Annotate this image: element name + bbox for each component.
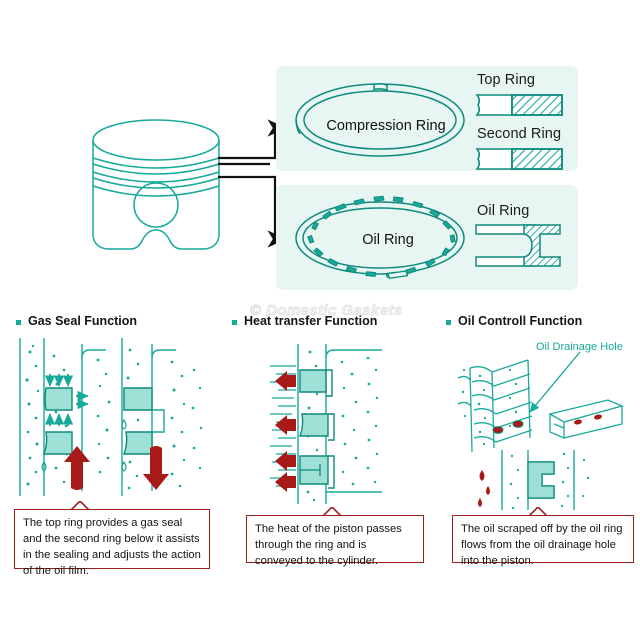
compression-ring-label: Compression Ring xyxy=(316,118,456,134)
section-header-heat-transfer: Heat transfer Function xyxy=(232,314,377,328)
oil-ring-in-groove xyxy=(528,462,554,498)
land-step-right xyxy=(152,410,164,432)
ring-block-middle xyxy=(300,414,334,440)
caption-oil-control: The oil scraped off by the oil ring flow… xyxy=(452,515,634,563)
second-ring-block-right xyxy=(124,432,152,454)
caption-pointer xyxy=(323,507,341,516)
section-title: Gas Seal Function xyxy=(28,314,137,328)
oil-ring-gap xyxy=(388,271,407,278)
bullet-icon xyxy=(232,320,237,325)
bullet-icon xyxy=(446,320,451,325)
piston-body-outline xyxy=(93,140,219,249)
oil-drainage-holes xyxy=(493,421,523,434)
piston-crown-ellipse xyxy=(93,120,219,160)
oil-droplet-right xyxy=(122,462,126,471)
piston-crown-line xyxy=(326,350,382,358)
caption-text: The top ring provides a gas seal and the… xyxy=(23,517,201,577)
second-ring-cross-section xyxy=(476,147,564,171)
connector-upper-a xyxy=(218,128,275,158)
connector-lower xyxy=(218,177,275,239)
oil-speckles-lower xyxy=(510,453,589,509)
section-title: Oil Controll Function xyxy=(458,314,582,328)
oil-control-diagram xyxy=(458,352,638,510)
bullet-icon xyxy=(16,320,21,325)
section-header-gas-seal: Gas Seal Function xyxy=(16,314,137,328)
top-ring-cross-section xyxy=(476,93,564,117)
compression-ring-gap xyxy=(374,84,387,90)
oil-ring-section-label: Oil Ring xyxy=(477,203,529,219)
caption-pointer xyxy=(71,501,89,510)
top-ring-block-left xyxy=(45,388,72,410)
scraped-oil-droplets xyxy=(478,470,490,507)
heat-transfer-diagram xyxy=(270,340,430,510)
section-title: Heat transfer Function xyxy=(244,314,377,328)
second-ring-label: Second Ring xyxy=(477,126,561,142)
caption-text: The oil scraped off by the oil ring flow… xyxy=(461,523,622,567)
piston-groove-1b xyxy=(93,164,219,174)
wrist-pin-bore xyxy=(134,183,178,227)
caption-heat-transfer: The heat of the piston passes through th… xyxy=(246,515,424,563)
oil-ring-cross-section xyxy=(474,222,566,270)
piston-top-left xyxy=(82,350,106,358)
oil-drainage-leader xyxy=(530,352,580,412)
ring-segment-detail xyxy=(550,400,622,438)
caption-gas-seal: The top ring provides a gas seal and the… xyxy=(14,509,210,569)
caption-pointer xyxy=(529,507,547,516)
piston-top-right xyxy=(152,350,176,358)
gas-seal-diagram xyxy=(14,336,214,501)
piston-land-perspective xyxy=(458,360,532,452)
top-ring-label: Top Ring xyxy=(477,72,535,88)
top-ring-block-right xyxy=(124,388,152,410)
heat-flow-arrows xyxy=(275,371,296,492)
ring-block-oil xyxy=(300,456,334,488)
second-ring-block-left xyxy=(44,432,72,454)
ring-block-top xyxy=(300,370,332,396)
oil-ring-center-label: Oil Ring xyxy=(318,232,458,248)
caption-text: The heat of the piston passes through th… xyxy=(255,523,402,567)
section-header-oil-control: Oil Controll Function xyxy=(446,314,582,328)
oil-droplet-right-2 xyxy=(122,420,126,429)
